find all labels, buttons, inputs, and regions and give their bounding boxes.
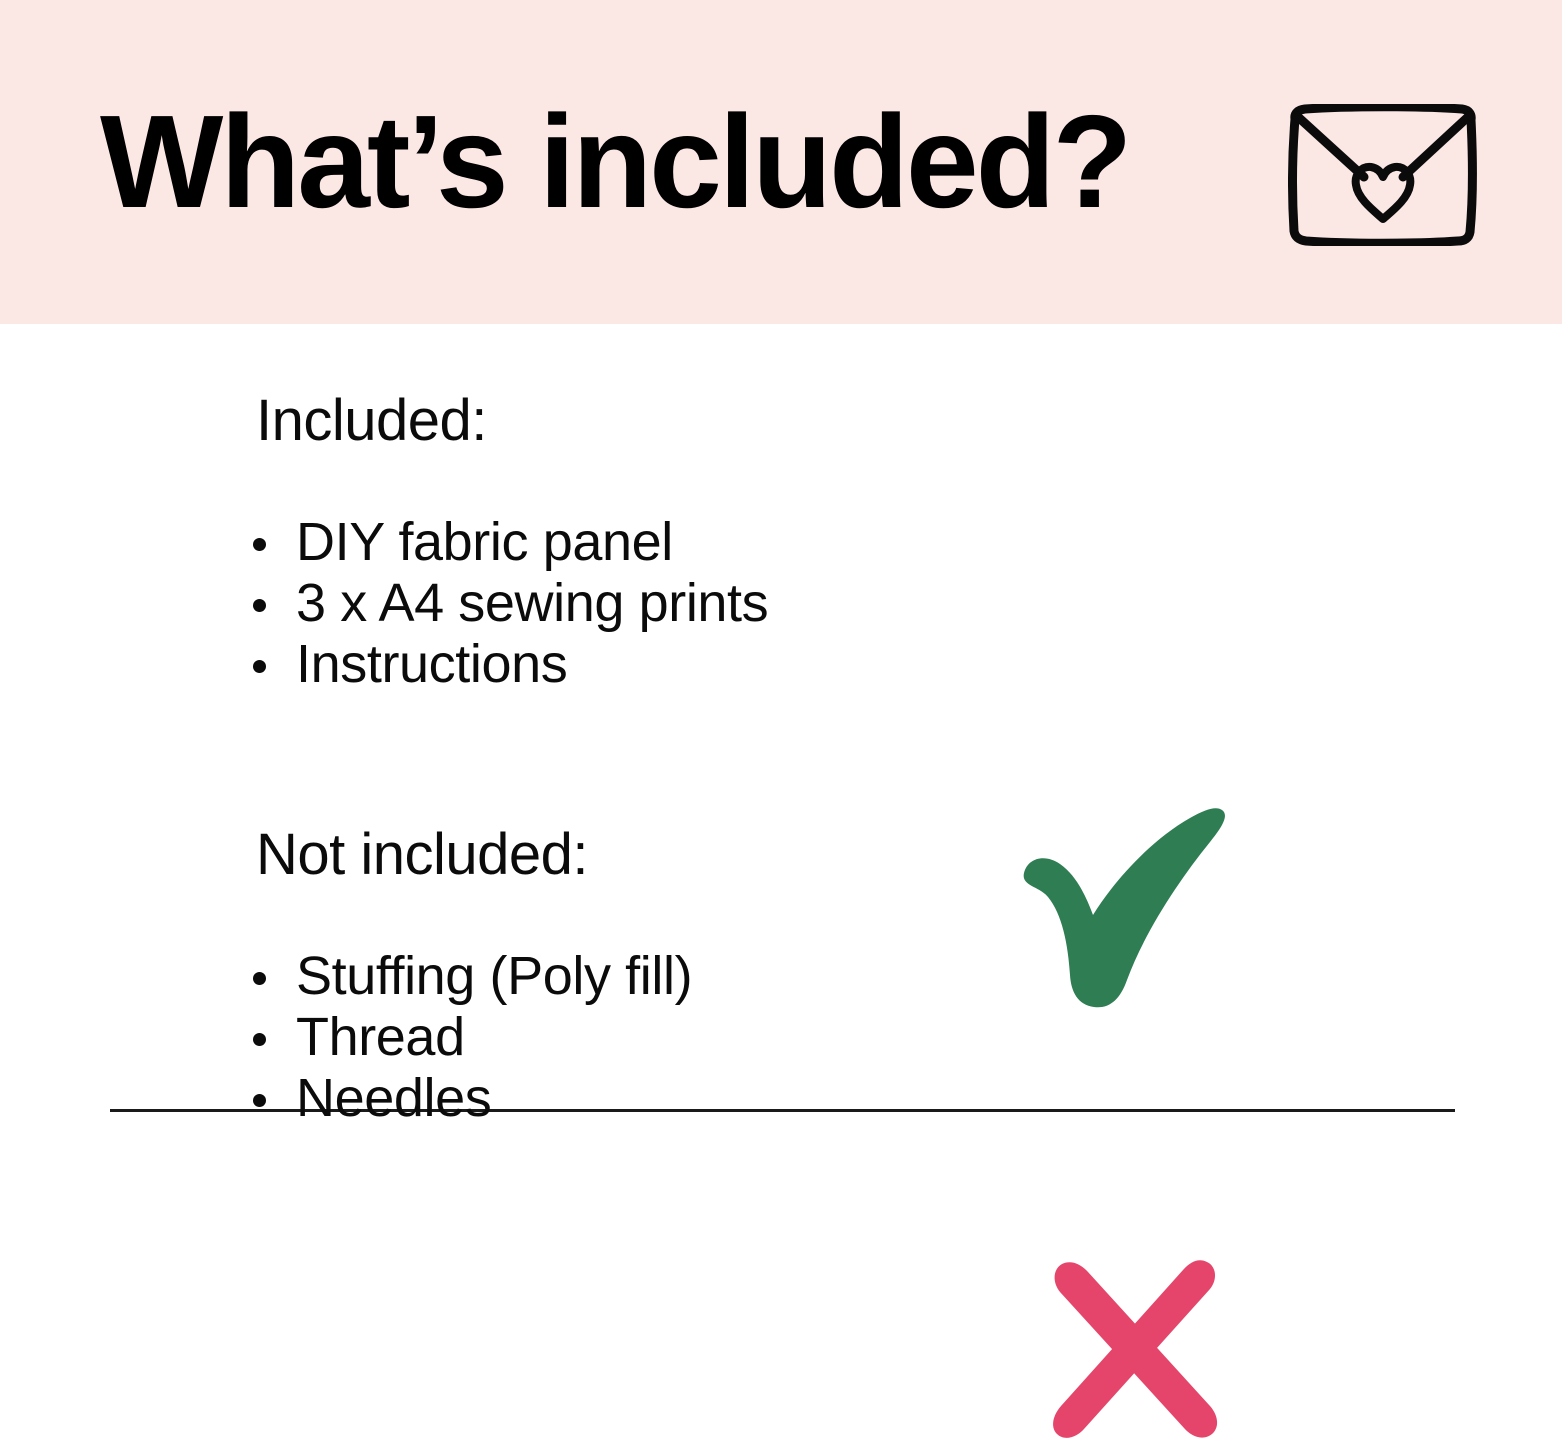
bullet-dot-icon (253, 972, 266, 985)
bullet-dot-icon (253, 1033, 266, 1046)
list-item-label: DIY fabric panel (296, 512, 673, 572)
section-not-included: Not included: Stuffing (Poly fill) Threa… (0, 824, 1562, 1224)
envelope-heart-icon (1288, 104, 1478, 246)
whats-included-card: What’s included? Included: DIY fabric pa… (0, 0, 1562, 1248)
list-item-label: Thread (296, 1007, 465, 1067)
list-item: 3 x A4 sewing prints (250, 573, 768, 634)
list-item: Instructions (250, 634, 768, 695)
bullet-dot-icon (253, 660, 266, 673)
pink-cross-icon (1032, 1254, 1237, 1444)
list-item-label: Instructions (296, 634, 567, 694)
section-heading-included: Included: (256, 390, 487, 452)
list-item: DIY fabric panel (250, 512, 768, 573)
section-included: Included: DIY fabric panel 3 x A4 sewing… (0, 390, 1562, 770)
list-item-label: Stuffing (Poly fill) (296, 946, 692, 1006)
not-included-list: Stuffing (Poly fill) Thread Needles (250, 946, 692, 1129)
header-band: What’s included? (0, 0, 1562, 324)
body-area: Included: DIY fabric panel 3 x A4 sewing… (0, 324, 1562, 1248)
bullet-dot-icon (253, 538, 266, 551)
list-item: Needles (250, 1068, 692, 1129)
page-title: What’s included? (100, 96, 1129, 228)
list-item: Thread (250, 1007, 692, 1068)
list-item: Stuffing (Poly fill) (250, 946, 692, 1007)
list-item-label: 3 x A4 sewing prints (296, 573, 768, 633)
bullet-dot-icon (253, 1094, 266, 1107)
bullet-dot-icon (253, 599, 266, 612)
section-heading-not-included: Not included: (256, 824, 588, 886)
list-item-label: Needles (296, 1068, 491, 1128)
included-list: DIY fabric panel 3 x A4 sewing prints In… (250, 512, 768, 695)
